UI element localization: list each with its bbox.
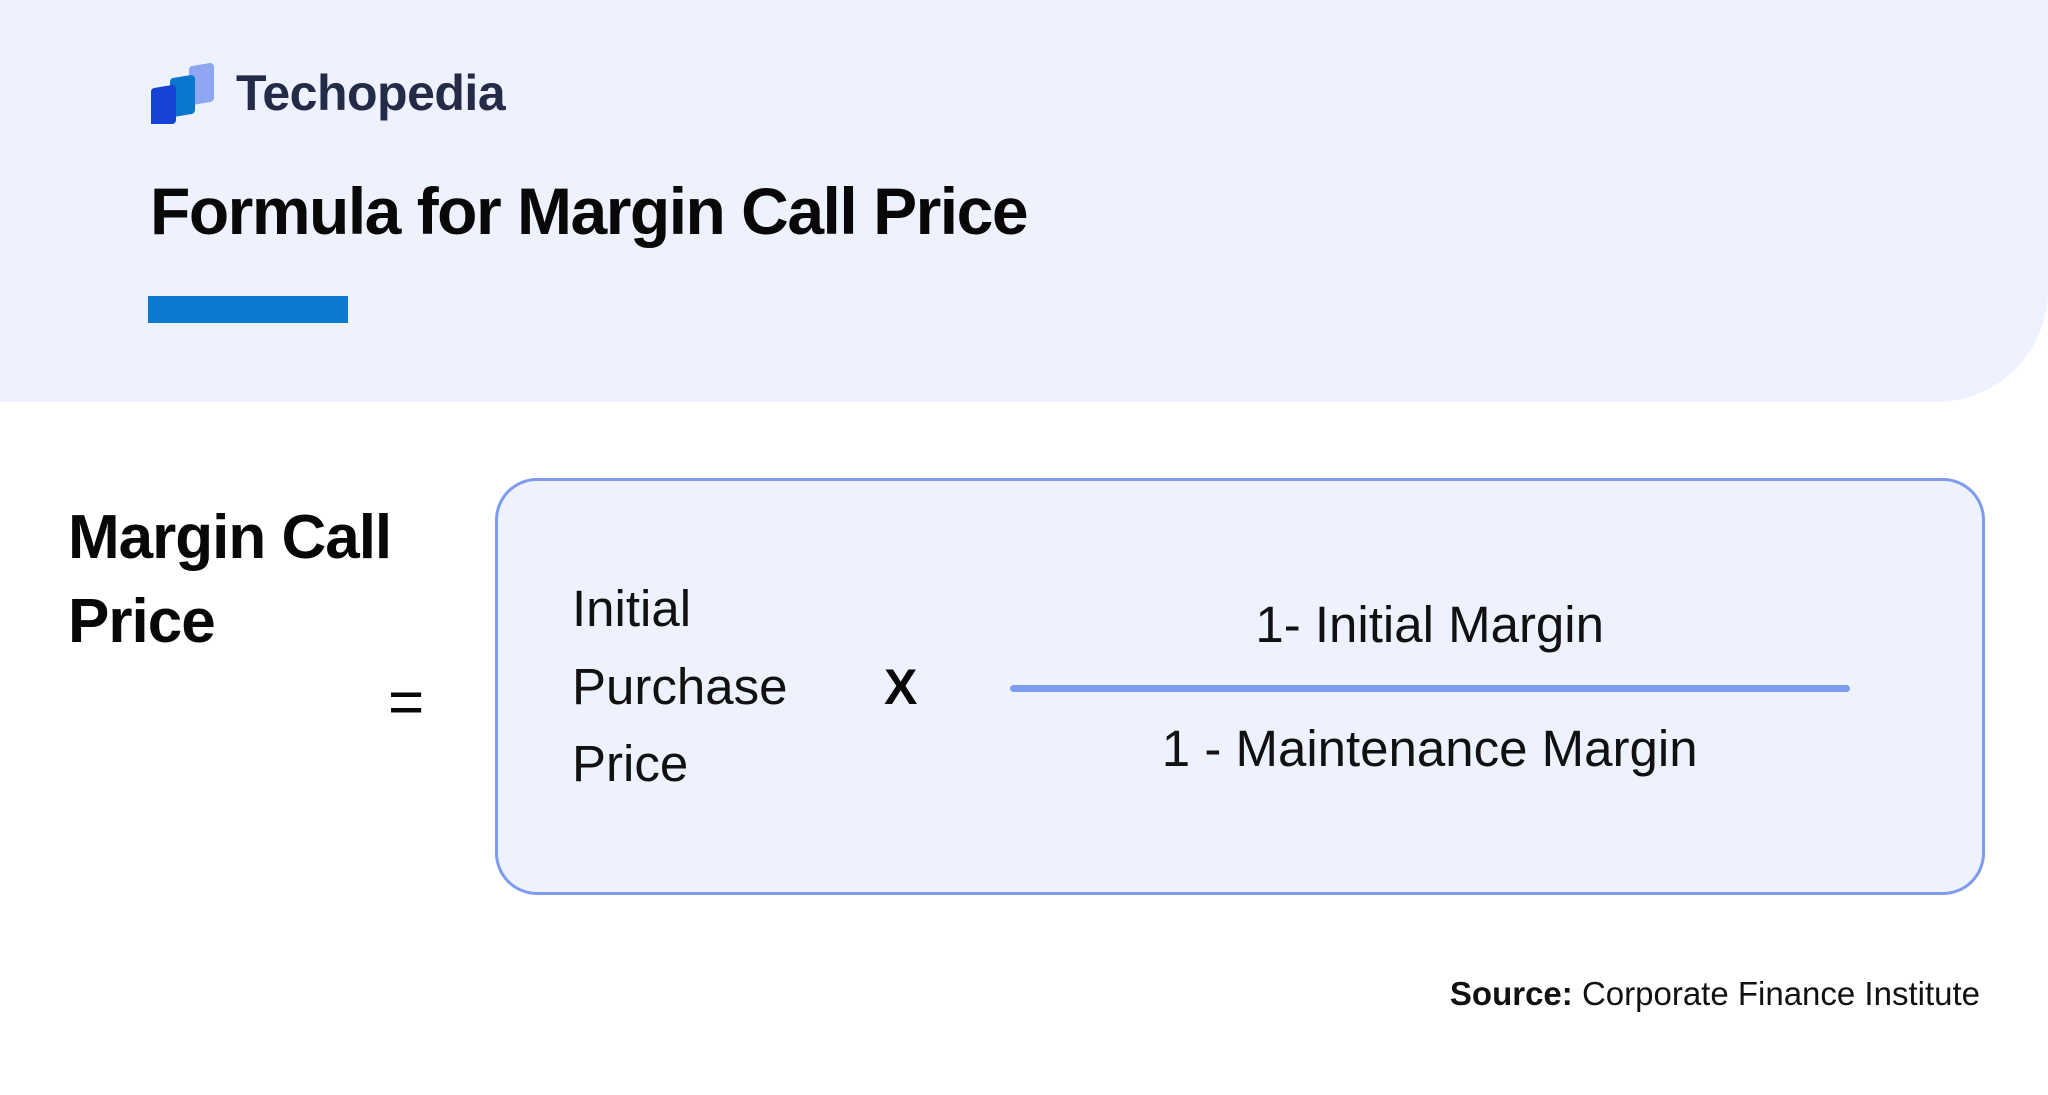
title-accent-bar xyxy=(148,296,348,323)
fraction-denominator: 1 - Maintenance Margin xyxy=(1162,718,1698,779)
page-title: Formula for Margin Call Price xyxy=(150,178,1027,244)
source-attribution: Source: Corporate Finance Institute xyxy=(1450,975,1980,1013)
brand-wordmark: Techopedia xyxy=(236,68,505,118)
fraction-bar xyxy=(1010,685,1850,692)
equals-sign: = xyxy=(388,672,424,734)
brand-lockup: Techopedia xyxy=(148,62,505,124)
multiply-sign: X xyxy=(884,662,917,712)
equation-left-label: Margin Call Price xyxy=(68,496,408,665)
fraction: 1- Initial Margin 1 - Maintenance Margin xyxy=(937,594,1922,779)
header-band: Techopedia Formula for Margin Call Price xyxy=(0,0,2048,402)
techopedia-logo-icon xyxy=(148,62,216,124)
source-value: Corporate Finance Institute xyxy=(1573,975,1980,1012)
formula-inner: Initial Purchase Price X 1- Initial Marg… xyxy=(498,481,1982,892)
source-label: Source: xyxy=(1450,975,1573,1012)
formula-box: Initial Purchase Price X 1- Initial Marg… xyxy=(495,478,1985,895)
fraction-numerator: 1- Initial Margin xyxy=(1255,594,1604,655)
operand-initial-purchase-price: Initial Purchase Price xyxy=(572,570,872,803)
equation-region: Margin Call Price = Initial Purchase Pri… xyxy=(0,460,2048,910)
